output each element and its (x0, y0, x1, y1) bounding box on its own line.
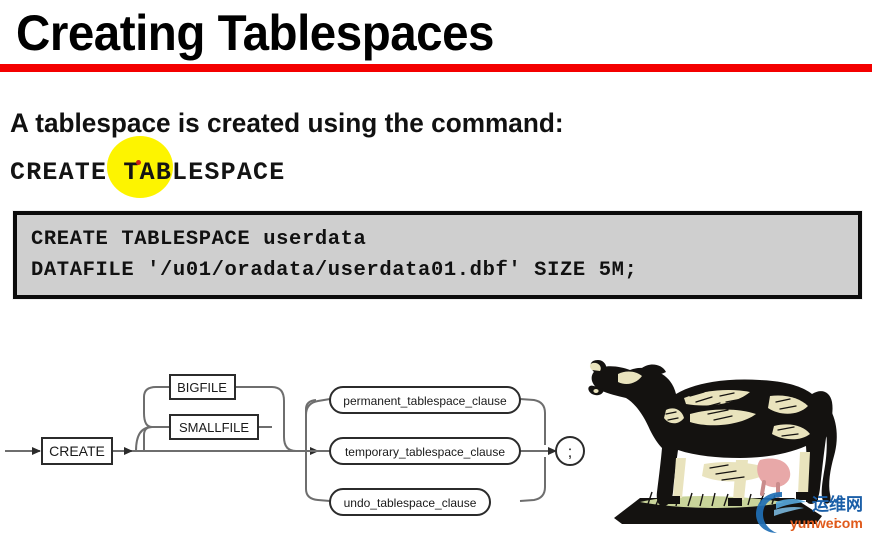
code-line: CREATE TABLESPACE userdata (31, 224, 858, 255)
syntax-terminator-label: ; (568, 444, 572, 461)
red-marker-dot (136, 160, 141, 165)
syntax-railroad-diagram: CREATE BIGFILE SMALLFILE permanent_table… (0, 355, 600, 530)
syntax-capsule-label: undo_tablespace_clause (344, 496, 477, 510)
syntax-capsule-label: permanent_tablespace_clause (343, 394, 507, 408)
lead-sentence: A tablespace is created using the comman… (10, 108, 564, 139)
code-block: CREATE TABLESPACE userdata DATAFILE '/u0… (13, 211, 862, 299)
syntax-box-label: SMALLFILE (179, 420, 249, 435)
syntax-box-smallfile: SMALLFILE (170, 415, 258, 439)
page-title: Creating Tablespaces (16, 2, 814, 64)
watermark-tld-text: com (834, 515, 863, 531)
cow-body (588, 360, 836, 506)
code-line: DATAFILE '/u01/oradata/userdata01.dbf' S… (31, 255, 858, 286)
syntax-capsule-label: temporary_tablespace_clause (345, 445, 505, 459)
command-line-text: CREATE TABLESPACE (10, 158, 285, 187)
watermark-domain-text: yunwei (790, 515, 837, 531)
syntax-box-bigfile: BIGFILE (170, 375, 235, 399)
syntax-capsule-permanent-clause: permanent_tablespace_clause (330, 387, 520, 413)
title-divider-rule (0, 64, 872, 72)
syntax-box-label: CREATE (49, 443, 105, 459)
syntax-capsule-temporary-clause: temporary_tablespace_clause (330, 438, 520, 464)
syntax-box-label: BIGFILE (177, 380, 227, 395)
watermark-cn-text: 运维网 (812, 494, 863, 515)
syntax-capsule-undo-clause: undo_tablespace_clause (330, 489, 490, 515)
site-watermark: 运维网 yunwei com (752, 486, 872, 536)
syntax-box-create: CREATE (42, 438, 112, 464)
